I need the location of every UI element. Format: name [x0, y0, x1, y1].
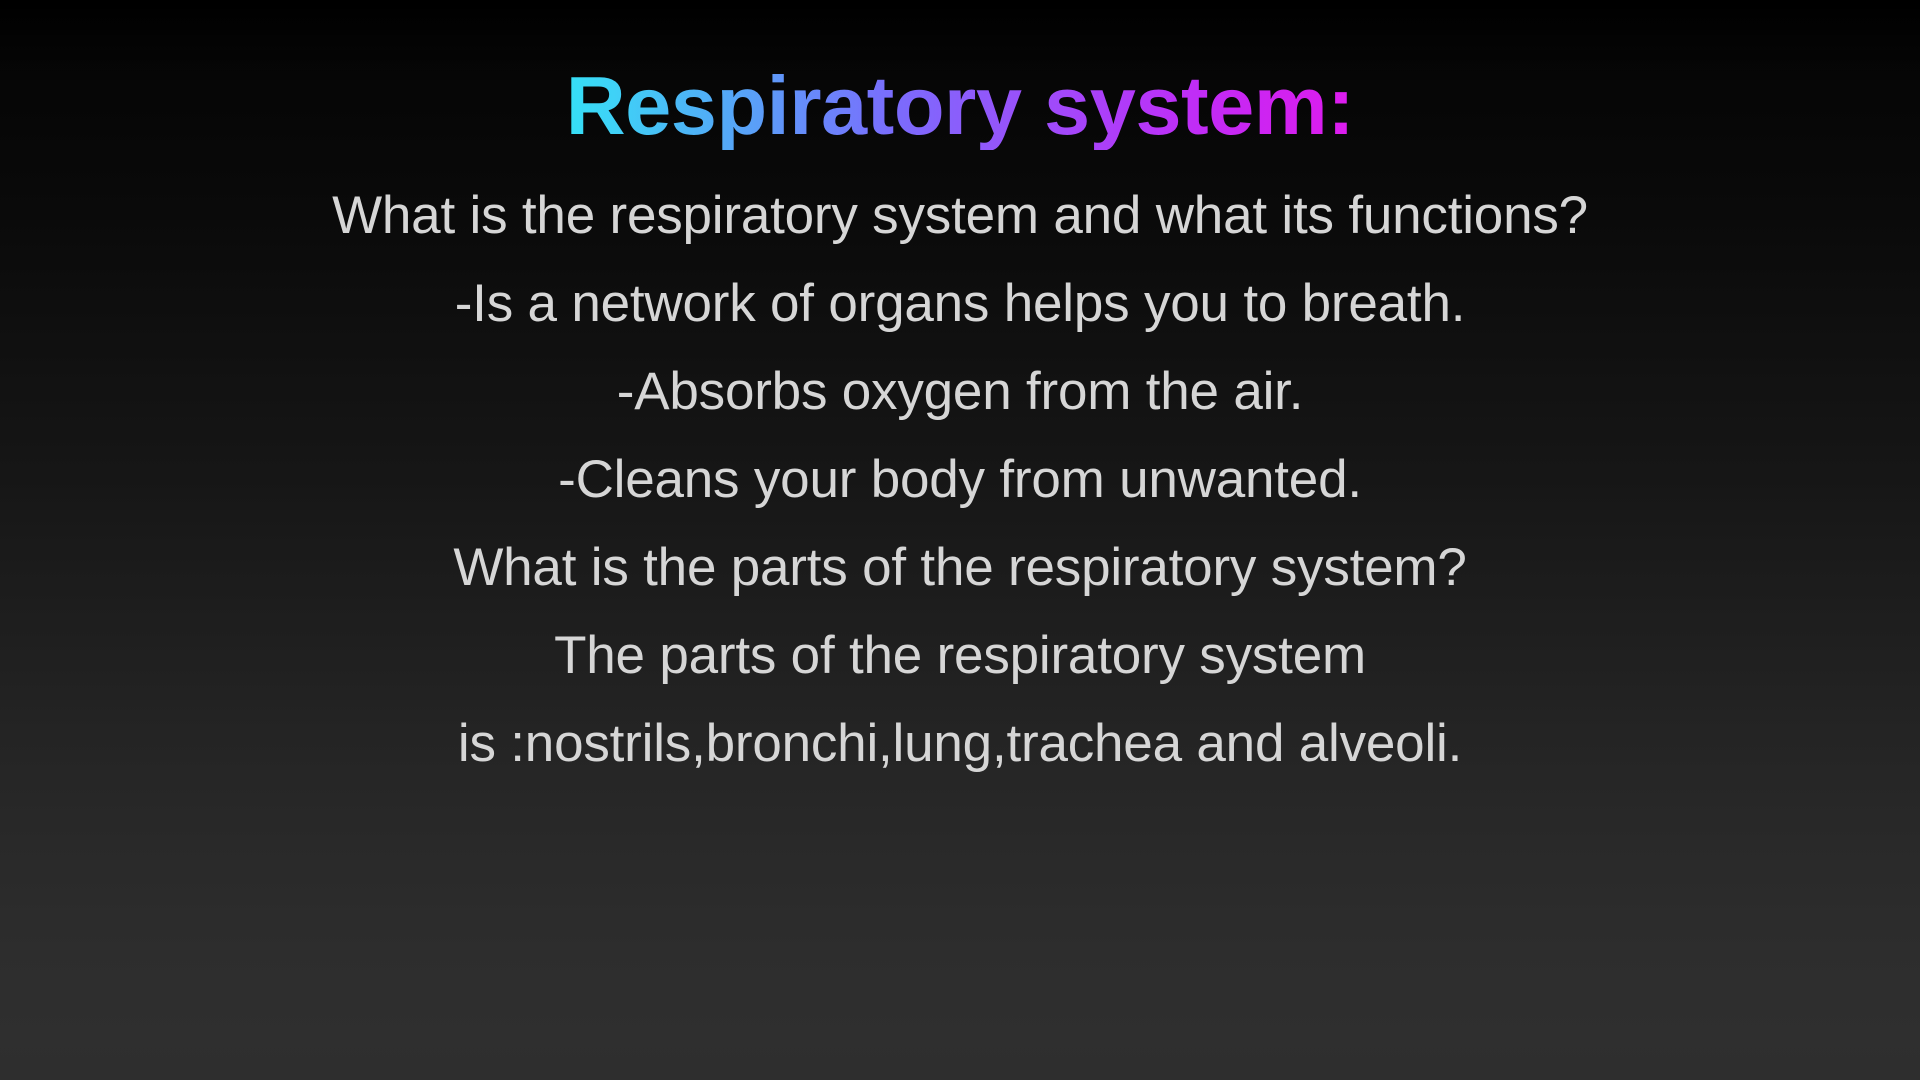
body-line-answer-2: is :nostrils,bronchi,lung,trachea and al… [0, 700, 1920, 788]
body-line-question-1: What is the respiratory system and what … [0, 172, 1920, 260]
slide-title: Respiratory system: [566, 62, 1355, 150]
body-line-function-1: -Is a network of organs helps you to bre… [0, 260, 1920, 348]
body-line-function-2: -Absorbs oxygen from the air. [0, 348, 1920, 436]
body-line-question-2: What is the parts of the respiratory sys… [0, 524, 1920, 612]
slide-body-text: What is the respiratory system and what … [0, 172, 1920, 788]
slide-content: Respiratory system: What is the respirat… [0, 0, 1920, 1080]
body-line-answer-1: The parts of the respiratory system [0, 612, 1920, 700]
body-line-function-3: -Cleans your body from unwanted. [0, 436, 1920, 524]
presentation-slide: Respiratory system: What is the respirat… [0, 0, 1920, 1080]
